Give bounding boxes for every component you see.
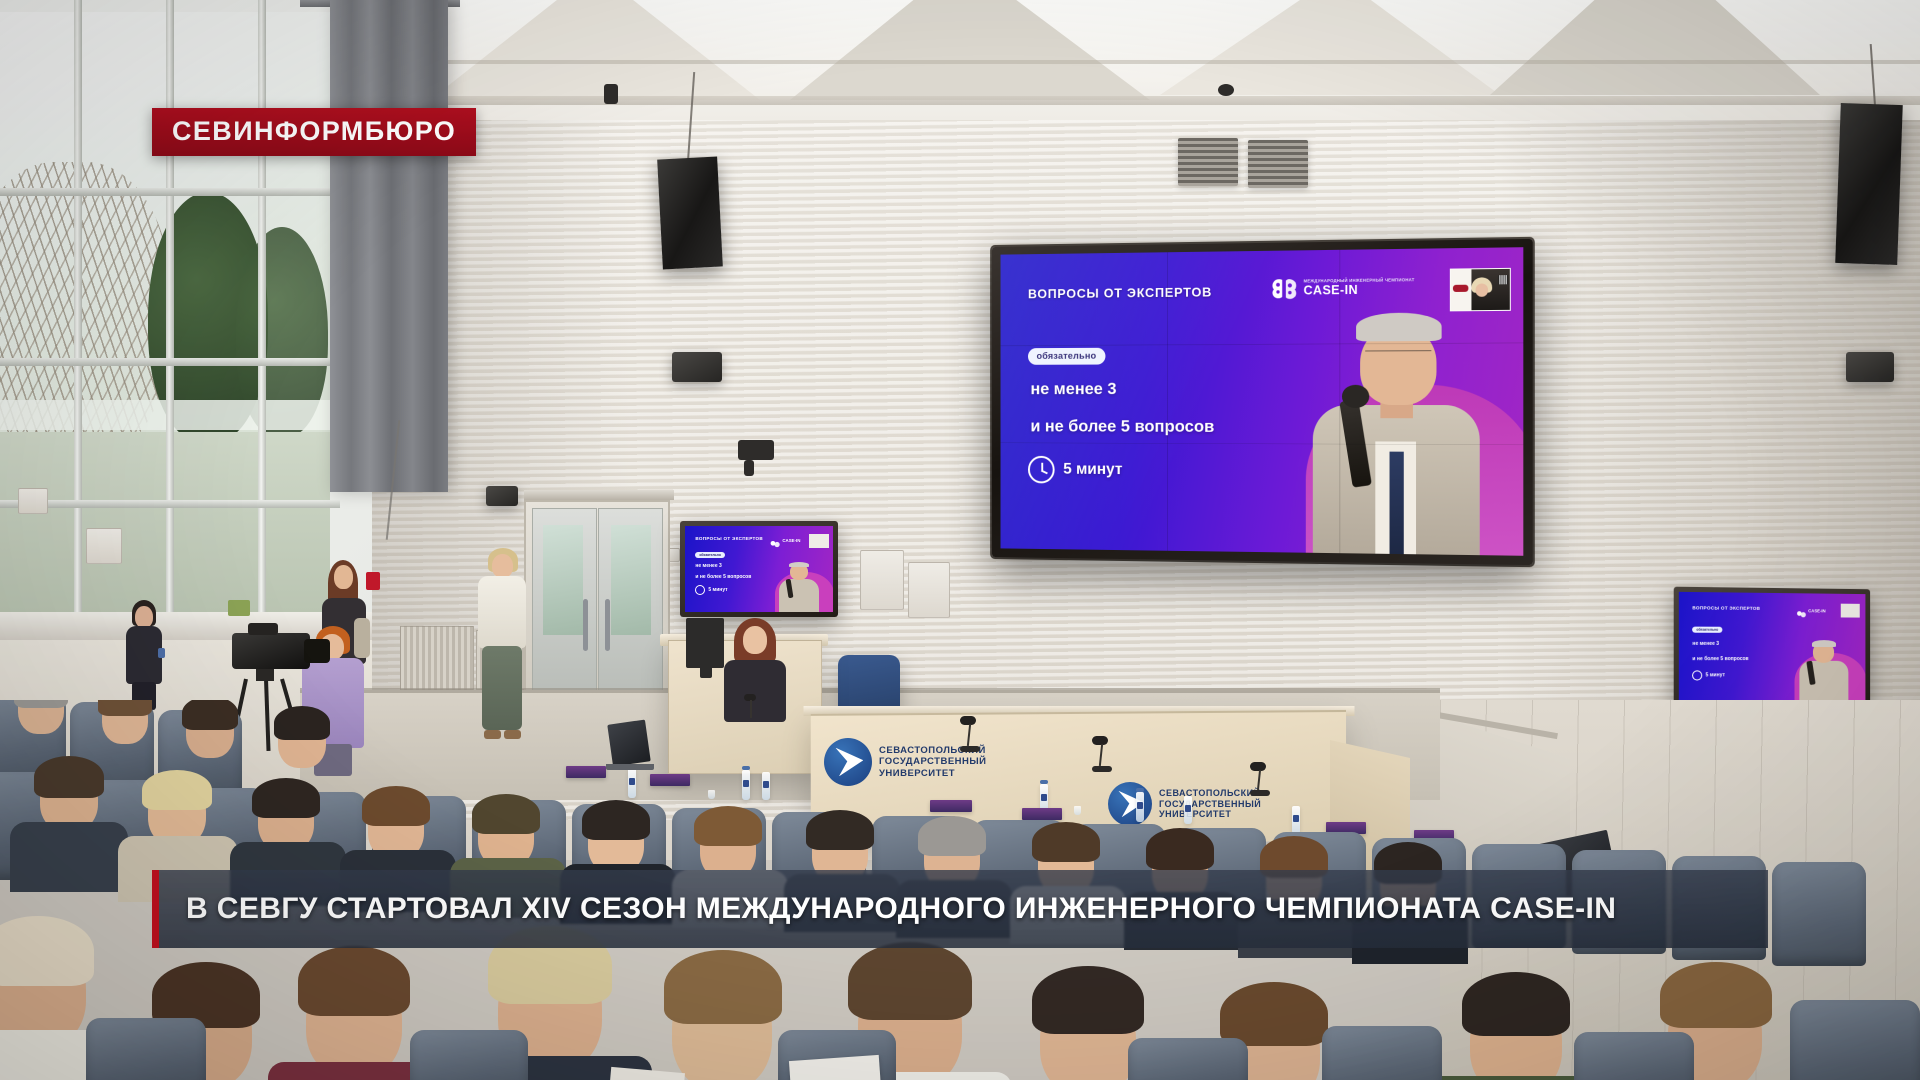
audience-hair-front bbox=[1462, 972, 1570, 1036]
auditorium-seat[interactable] bbox=[410, 1030, 528, 1080]
person-head bbox=[492, 554, 513, 578]
casein-name: CASE-IN bbox=[1304, 283, 1415, 297]
audience-hair bbox=[252, 778, 320, 818]
hanging-speaker bbox=[1835, 103, 1903, 265]
mini-video-call-participant bbox=[1841, 604, 1860, 618]
door-glass bbox=[543, 525, 583, 635]
brain-gear-icon bbox=[1271, 276, 1298, 300]
window-mullion bbox=[166, 0, 174, 620]
audience-hair bbox=[806, 810, 874, 850]
auditorium-seat[interactable] bbox=[86, 1018, 206, 1080]
wall-socket-panel bbox=[86, 528, 122, 564]
phone-icon bbox=[158, 648, 165, 658]
audience-hair-front bbox=[0, 916, 94, 986]
audience-shoulders bbox=[10, 822, 128, 892]
wall-speaker bbox=[1846, 352, 1894, 382]
audience-hair bbox=[142, 770, 212, 810]
mini-time-row: 5 минут bbox=[1692, 670, 1725, 680]
wall-access-panel bbox=[908, 562, 950, 618]
radiator-grille bbox=[400, 626, 474, 690]
person-sweater bbox=[478, 576, 526, 648]
audience-hair bbox=[694, 806, 762, 846]
pip-qr-icon bbox=[1499, 275, 1508, 284]
mini-slide-line-2: и не более 5 вопросов bbox=[1692, 656, 1748, 662]
mini-time-value: 5 минут bbox=[1706, 673, 1725, 679]
mini-slide-badge: обязательно bbox=[1692, 626, 1722, 632]
audience-hair bbox=[274, 706, 330, 740]
headline-text: В СЕВГУ СТАРТОВАЛ XIV СЕЗОН МЕЖДУНАРОДНО… bbox=[152, 892, 1616, 926]
headline-ticker: В СЕВГУ СТАРТОВАЛ XIV СЕЗОН МЕЖДУНАРОДНО… bbox=[152, 870, 1768, 948]
mini-speaker-hair bbox=[1812, 640, 1837, 647]
mini-time-row: 5 минут bbox=[695, 585, 727, 595]
audience-hair-front bbox=[848, 942, 972, 1020]
clock-icon bbox=[1692, 671, 1702, 681]
side-wall-monitor[interactable]: ВОПРОСЫ ОТ ЭКСПЕРТОВ CASE-IN обязательно… bbox=[1674, 587, 1870, 712]
audience-hair bbox=[472, 794, 540, 834]
hanging-speaker bbox=[657, 157, 723, 270]
mini-slide-line-1: не менее 3 bbox=[695, 563, 721, 569]
brain-gear-icon bbox=[770, 536, 780, 545]
wall-speaker bbox=[486, 486, 518, 506]
clock-icon bbox=[1028, 456, 1055, 484]
camera-mount bbox=[744, 460, 754, 476]
wall-sensor bbox=[18, 488, 48, 514]
ceiling-facet bbox=[1490, 0, 1820, 95]
stage-monitor-display: ВОПРОСЫ ОТ ЭКСПЕРТОВ CASE-IN обязательно… bbox=[685, 526, 833, 612]
audience-hair-front bbox=[1032, 966, 1144, 1034]
door-handle[interactable] bbox=[605, 599, 610, 651]
brain-gear-icon bbox=[1797, 607, 1807, 616]
window-mullion bbox=[0, 500, 340, 508]
person-head bbox=[135, 606, 153, 628]
mini-speaker-jacket bbox=[779, 579, 819, 612]
audience-hair bbox=[582, 800, 650, 840]
door-leaf-right[interactable] bbox=[598, 508, 663, 694]
wall-camera bbox=[738, 440, 774, 460]
slide-badge: обязательно bbox=[1028, 348, 1105, 365]
mini-casein-logo: CASE-IN bbox=[1797, 607, 1826, 616]
podium-monitor[interactable] bbox=[686, 618, 724, 668]
auditorium-seat[interactable] bbox=[1128, 1038, 1248, 1080]
ceiling-camera bbox=[604, 84, 618, 104]
audience-hair-front bbox=[1220, 982, 1328, 1046]
exit-sign-icon bbox=[228, 600, 250, 616]
slide-time-value: 5 минут bbox=[1063, 461, 1122, 479]
entrance-door[interactable] bbox=[524, 500, 670, 700]
tripod-head bbox=[256, 667, 274, 681]
mini-casein-name: CASE-IN bbox=[1808, 609, 1825, 614]
screen-case bbox=[524, 490, 674, 500]
audience-hair bbox=[362, 786, 430, 826]
mini-time-value: 5 минут bbox=[708, 587, 727, 593]
window-mullion bbox=[0, 188, 340, 196]
speaker-hair bbox=[1356, 313, 1442, 342]
audience-hair bbox=[1146, 828, 1214, 870]
slide-line-1: не менее 3 bbox=[1030, 379, 1116, 399]
audience-hair-front bbox=[1660, 962, 1772, 1028]
ceiling-camera bbox=[1218, 84, 1234, 96]
slide-speaker-photo bbox=[1271, 297, 1523, 556]
mini-slide-badge: обязательно bbox=[695, 552, 725, 558]
window-mullion bbox=[74, 0, 82, 620]
person-torso bbox=[126, 626, 162, 684]
auditorium-seat[interactable] bbox=[1322, 1026, 1442, 1080]
mini-casein-logo: CASE-IN bbox=[770, 536, 800, 545]
pip-skin bbox=[1475, 284, 1487, 297]
auditorium-seat[interactable] bbox=[1772, 862, 1866, 966]
podium-monitor-stand bbox=[700, 666, 712, 678]
audience-hair bbox=[98, 700, 152, 716]
broadcast-frame: ВОПРОСЫ ОТ ЭКСПЕРТОВ МЕЖДУНАРОДНЫЙ ИНЖЕН… bbox=[0, 0, 1920, 1080]
audience-hair bbox=[14, 700, 68, 708]
microphone-head bbox=[1342, 385, 1370, 408]
person-standing-left bbox=[122, 600, 166, 710]
stage-monitor[interactable]: ВОПРОСЫ ОТ ЭКСПЕРТОВ CASE-IN обязательно… bbox=[680, 521, 838, 617]
camera-lens bbox=[304, 639, 330, 663]
channel-logo-text: СЕВИНФОРМБЮРО bbox=[172, 118, 456, 145]
ceiling-vent bbox=[1248, 140, 1308, 188]
window-glass bbox=[0, 12, 330, 612]
speaker-glasses bbox=[1366, 350, 1432, 364]
person-head bbox=[743, 626, 767, 654]
person-head bbox=[334, 565, 353, 589]
audience-hair bbox=[1032, 822, 1100, 862]
speaker-tie bbox=[1389, 451, 1403, 554]
auditorium-seat[interactable] bbox=[1790, 1000, 1920, 1080]
audience-hair bbox=[918, 816, 986, 856]
audience-hair-front bbox=[664, 950, 782, 1024]
window-ground bbox=[0, 432, 330, 622]
mini-slide-line-2: и не более 5 вопросов bbox=[695, 574, 751, 580]
mini-speaker-photo bbox=[768, 550, 830, 612]
window-mullion bbox=[258, 0, 266, 620]
audience-hair-front bbox=[298, 946, 410, 1016]
curtain bbox=[330, 0, 448, 492]
wall-speaker bbox=[672, 352, 722, 382]
window-wall bbox=[0, 0, 372, 640]
door-leaf-left[interactable] bbox=[532, 508, 597, 694]
ceiling-vent bbox=[1178, 138, 1238, 186]
mini-slide-line-1: не менее 3 bbox=[1692, 641, 1719, 647]
mini-casein-name: CASE-IN bbox=[782, 538, 800, 543]
camera-body bbox=[232, 633, 310, 669]
slide-time-row: 5 минут bbox=[1028, 456, 1122, 484]
side-monitor-display: ВОПРОСЫ ОТ ЭКСПЕРТОВ CASE-IN обязательно… bbox=[1679, 592, 1866, 706]
ceiling-facet bbox=[430, 0, 760, 100]
pip-banner bbox=[1453, 284, 1468, 291]
slide-line-2: и не более 5 вопросов bbox=[1030, 416, 1214, 436]
ceiling-facet bbox=[1160, 0, 1500, 95]
mini-speaker-hair bbox=[789, 562, 809, 568]
window-mullion bbox=[0, 358, 340, 366]
window-haze bbox=[0, 400, 330, 430]
channel-logo-badge: СЕВИНФОРМБЮРО bbox=[152, 108, 476, 156]
audience-hair bbox=[34, 756, 104, 798]
ceiling-facet bbox=[790, 0, 1150, 100]
main-video-wall-display: ВОПРОСЫ ОТ ЭКСПЕРТОВ МЕЖДУНАРОДНЫЙ ИНЖЕН… bbox=[1001, 247, 1524, 556]
camera-hood bbox=[248, 623, 278, 635]
clock-icon bbox=[695, 585, 705, 595]
mini-slide-title: ВОПРОСЫ ОТ ЭКСПЕРТОВ bbox=[695, 536, 763, 541]
mini-speaker-photo bbox=[1785, 624, 1862, 704]
door-handle[interactable] bbox=[583, 599, 588, 651]
audience-hair bbox=[182, 700, 238, 730]
mini-slide-title: ВОПРОСЫ ОТ ЭКСПЕРТОВ bbox=[1692, 606, 1760, 612]
slide-title: ВОПРОСЫ ОТ ЭКСПЕРТОВ bbox=[1028, 285, 1212, 302]
auditorium-seat[interactable] bbox=[1574, 1032, 1694, 1080]
wall-access-panel bbox=[860, 550, 904, 610]
main-video-wall[interactable]: ВОПРОСЫ ОТ ЭКСПЕРТОВ МЕЖДУНАРОДНЫЙ ИНЖЕН… bbox=[992, 239, 1533, 565]
ticker-accent-bar bbox=[152, 870, 159, 948]
door-glass bbox=[611, 525, 651, 635]
casein-logo: МЕЖДУНАРОДНЫЙ ИНЖЕНЕРНЫЙ ЧЕМПИОНАТ CASE-… bbox=[1271, 275, 1415, 301]
mini-video-call-participant bbox=[809, 534, 829, 548]
